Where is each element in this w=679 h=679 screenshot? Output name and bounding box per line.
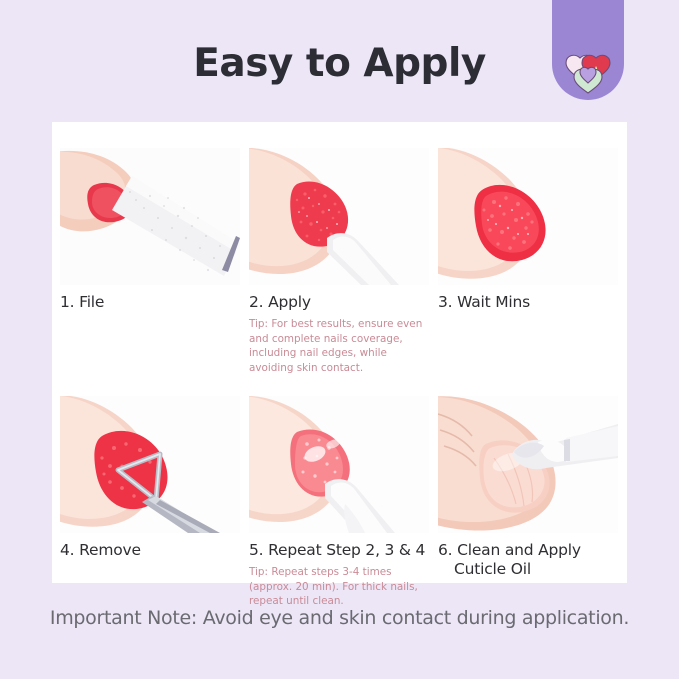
step-item-2: 2. Apply Tip: For best results, ensure e… bbox=[249, 148, 429, 376]
important-note: Important Note: Avoid eye and skin conta… bbox=[0, 607, 679, 629]
step-6-photo bbox=[438, 396, 618, 533]
step-3-caption: 3. Wait Mins bbox=[438, 293, 618, 312]
instructions-card: 1. File bbox=[52, 122, 627, 583]
step-5-caption: 5. Repeat Step 2, 3 & 4 bbox=[249, 541, 429, 560]
step-4-caption: 4. Remove bbox=[60, 541, 240, 560]
step-item-1: 1. File bbox=[60, 148, 240, 376]
step-2-tip: Tip: For best results, ensure even and c… bbox=[249, 317, 429, 376]
step-1-caption: 1. File bbox=[60, 293, 240, 312]
step-3-photo bbox=[438, 148, 618, 285]
step-5-tip: Tip: Repeat steps 3-4 times (approx. 20 … bbox=[249, 565, 429, 609]
step-item-6: 6. Clean and Apply Cuticle Oil bbox=[438, 396, 618, 609]
step-6-caption: 6. Clean and Apply Cuticle Oil bbox=[438, 541, 618, 579]
step-2-caption: 2. Apply bbox=[249, 293, 429, 312]
step-6-caption-line2: Cuticle Oil bbox=[438, 560, 618, 579]
step-2-photo bbox=[249, 148, 429, 285]
step-6-caption-line1: 6. Clean and Apply bbox=[438, 541, 581, 559]
step-item-4: 4. Remove bbox=[60, 396, 240, 609]
step-5-photo bbox=[249, 396, 429, 533]
step-item-3: 3. Wait Mins bbox=[438, 148, 618, 376]
steps-grid: 1. File bbox=[60, 148, 619, 609]
step-4-photo bbox=[60, 396, 240, 533]
step-item-5: 5. Repeat Step 2, 3 & 4 Tip: Repeat step… bbox=[249, 396, 429, 609]
page-title: Easy to Apply bbox=[0, 41, 679, 86]
step-1-photo bbox=[60, 148, 240, 285]
